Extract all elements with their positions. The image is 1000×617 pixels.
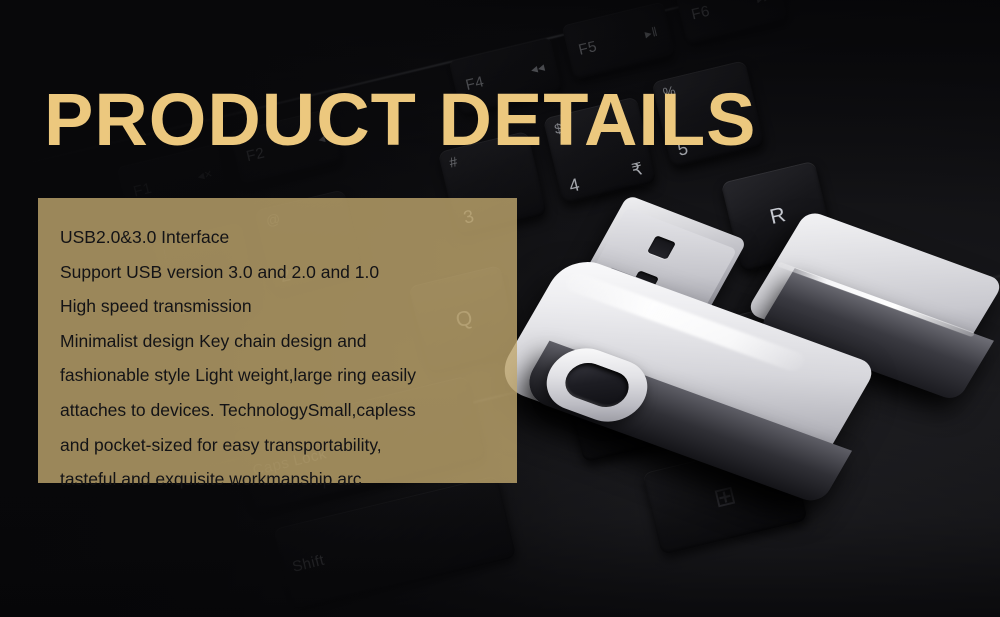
details-line: USB2.0&3.0 Interface bbox=[60, 220, 517, 255]
product-details-banner: F1 ◂× F2 ◂ F4 ◂◂ F5 ▸‖ F6 ▸▸ ! 1 bbox=[0, 0, 1000, 617]
details-line: attaches to devices. TechnologySmall,cap… bbox=[60, 393, 517, 428]
details-line: fashionable style Light weight,large rin… bbox=[60, 358, 517, 393]
details-panel: USB2.0&3.0 Interface Support USB version… bbox=[38, 198, 517, 483]
details-line: Support USB version 3.0 and 2.0 and 1.0 bbox=[60, 255, 517, 290]
page-title: PRODUCT DETAILS bbox=[44, 83, 757, 157]
details-line: tasteful and exquisite workmanship arc bbox=[60, 462, 517, 497]
details-list: USB2.0&3.0 Interface Support USB version… bbox=[60, 220, 517, 497]
details-line: and pocket-sized for easy transportabili… bbox=[60, 428, 517, 463]
details-line: High speed transmission bbox=[60, 289, 517, 324]
details-line: Minimalist design Key chain design and bbox=[60, 324, 517, 359]
